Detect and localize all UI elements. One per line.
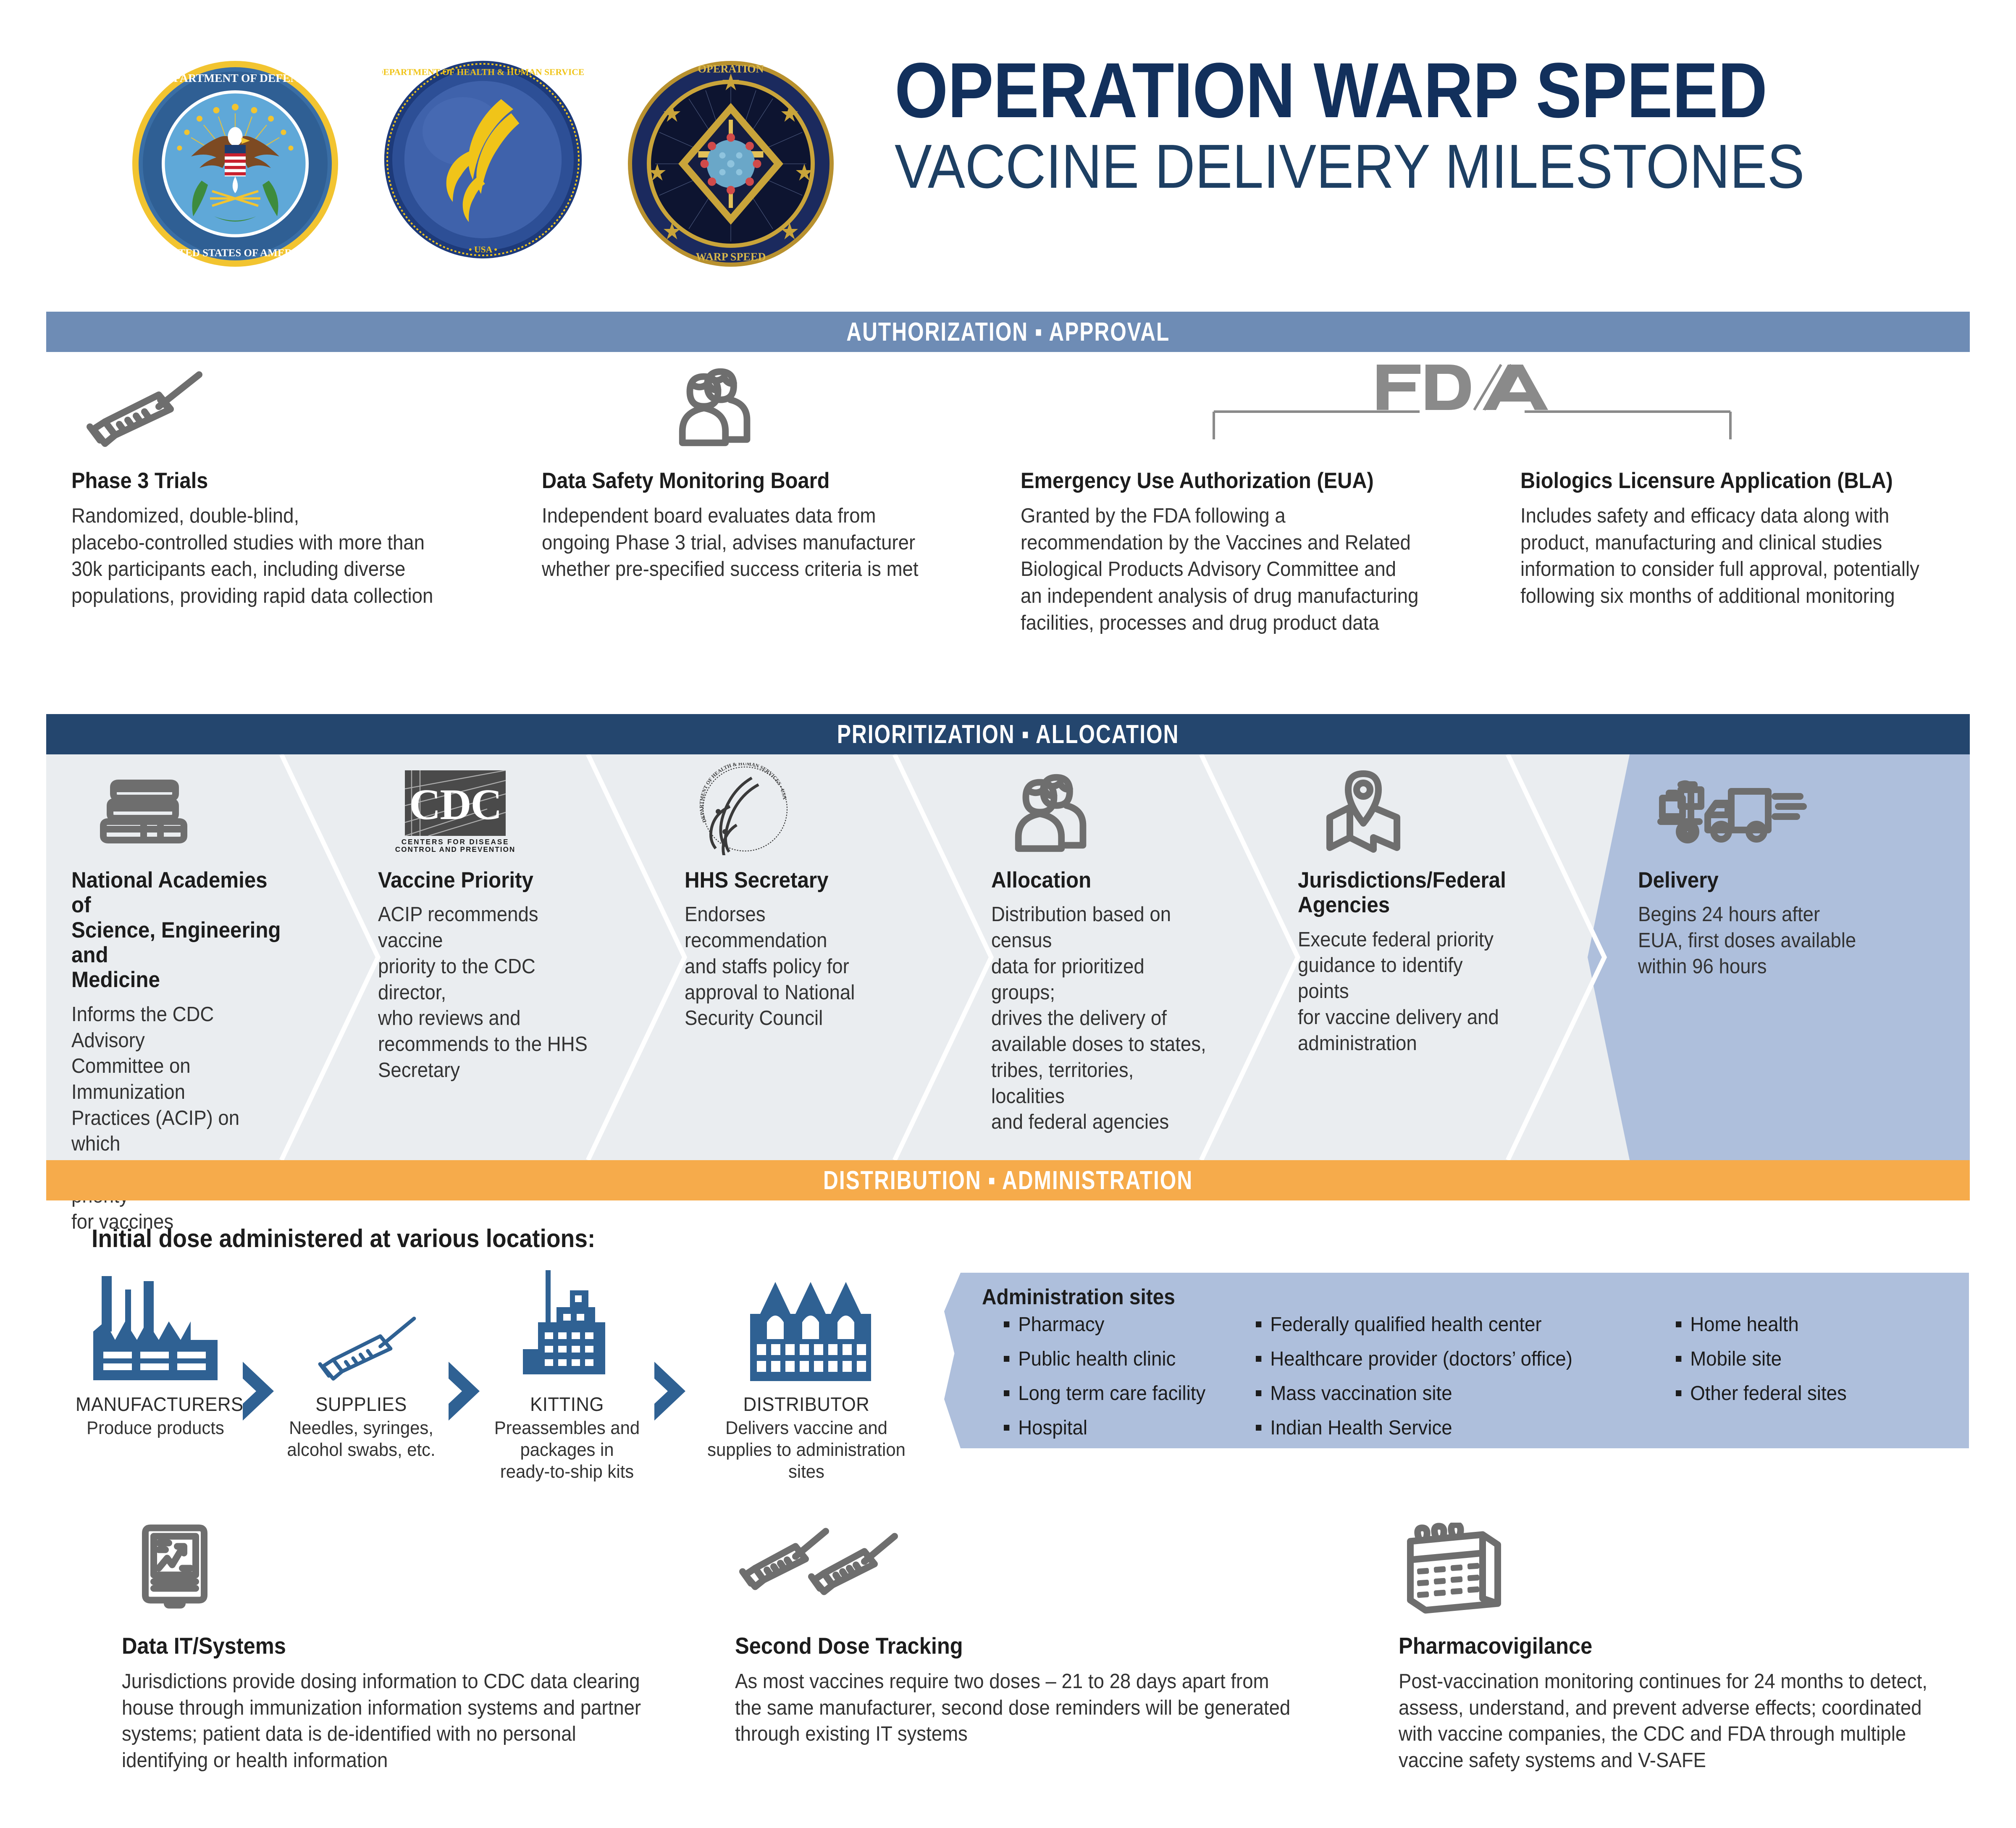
chain-node-manufacturers: MANUFACTURERS Produce products bbox=[71, 1269, 239, 1439]
svg-text:CDC: CDC bbox=[409, 780, 501, 829]
hhs-seal: DEPARTMENT OF HEALTH & HUMAN SERVICES • … bbox=[382, 59, 584, 260]
distribution-heading: Initial dose administered at various loc… bbox=[92, 1224, 595, 1253]
item-body: Execute federal priorityguidance to iden… bbox=[1298, 927, 1517, 1057]
item-eua: Emergency Use Authorization (EUA) Grante… bbox=[1021, 361, 1495, 636]
item-title: Second Dose Tracking bbox=[735, 1632, 1315, 1659]
item-bla: Biologics Licensure Application (BLA) In… bbox=[1520, 361, 1978, 610]
cdc-logo-icon: CDC CENTERS FOR DISEASE CONTROL AND PREV… bbox=[378, 754, 605, 855]
item-data-it-systems: Data IT/Systems Jurisdictions provide do… bbox=[122, 1521, 731, 1774]
list-item: Mobile site bbox=[1676, 1349, 1847, 1369]
page-subtitle: VACCINE DELIVERY MILESTONES bbox=[895, 136, 1804, 198]
svg-text:DEPARTMENT OF HEALTH & HUMAN S: DEPARTMENT OF HEALTH & HUMAN SERVICES bbox=[382, 67, 584, 77]
section-bar-authorization-label: AUTHORIZATION ▪ APPROVAL bbox=[846, 317, 1170, 347]
section-bar-distribution-label: DISTRIBUTION ▪ ADMINISTRATION bbox=[823, 1166, 1193, 1195]
list-item: Federally qualified health center bbox=[1256, 1315, 1572, 1335]
calendar-icon bbox=[1399, 1521, 1999, 1617]
eua-spacer bbox=[1021, 361, 1495, 449]
section-followup: Data IT/Systems Jurisdictions provide do… bbox=[0, 1521, 2016, 1815]
section-prioritization: National Academies ofScience, Engineerin… bbox=[46, 754, 1970, 1160]
item-title: Emergency Use Authorization (EUA) bbox=[1021, 468, 1457, 494]
list-item: Healthcare provider (doctors’ office) bbox=[1256, 1349, 1572, 1369]
item-title: Jurisdictions/FederalAgencies bbox=[1298, 868, 1517, 918]
svg-text:DEPARTMENT OF HEALTH & HUMAN S: DEPARTMENT OF HEALTH & HUMAN SERVICES • … bbox=[698, 763, 788, 823]
item-body: As most vaccines require two doses – 21 … bbox=[735, 1668, 1321, 1747]
laptop-chart-icon bbox=[122, 1521, 731, 1617]
map-pin-icon bbox=[1298, 754, 1533, 855]
two-syringes-icon bbox=[735, 1521, 1365, 1617]
svg-text:WARP SPEED: WARP SPEED bbox=[696, 251, 766, 263]
item-title: Data Safety Monitoring Board bbox=[542, 468, 959, 494]
chain-node-name: MANUFACTURERS bbox=[76, 1393, 235, 1416]
masthead: DEPARTMENT OF DEFENSE UNITED STATES OF A… bbox=[0, 0, 2016, 294]
administration-sites-heading: Administration sites bbox=[982, 1284, 1175, 1310]
chain-node-desc: Preassembles andpackages inready-to-ship… bbox=[487, 1417, 647, 1483]
item-body: Granted by the FDA following arecommenda… bbox=[1021, 503, 1462, 636]
item-body: Begins 24 hours afterEUA, first doses av… bbox=[1638, 902, 1880, 980]
infographic-page: DEPARTMENT OF DEFENSE UNITED STATES OF A… bbox=[0, 0, 2016, 1828]
item-second-dose-tracking: Second Dose Tracking As most vaccines re… bbox=[735, 1521, 1365, 1747]
section-authorization: Phase 3 Trials Randomized, double-blind,… bbox=[0, 361, 2016, 706]
item-title: National Academies ofScience, Engineerin… bbox=[71, 868, 290, 993]
item-body: Post-vaccination monitoring continues fo… bbox=[1399, 1668, 1957, 1774]
item-title: Delivery bbox=[1638, 868, 1880, 893]
list-item: Public health clinic bbox=[1004, 1349, 1205, 1369]
svg-text:OPERATION: OPERATION bbox=[698, 63, 764, 75]
item-title: Allocation bbox=[991, 868, 1210, 893]
svg-text:UNITED STATES OF AMERICA: UNITED STATES OF AMERICA bbox=[159, 247, 312, 259]
svg-text:CONTROL AND PREVENTION: CONTROL AND PREVENTION bbox=[395, 845, 516, 854]
list-item: Home health bbox=[1676, 1315, 1847, 1335]
administration-sites-column-3: Home health Mobile site Other federal si… bbox=[1676, 1315, 1856, 1418]
syringe-icon bbox=[71, 361, 491, 449]
dod-seal: DEPARTMENT OF DEFENSE UNITED STATES OF A… bbox=[130, 59, 340, 269]
chain-arrow-2 bbox=[445, 1360, 483, 1423]
item-body: Randomized, double-blind,placebo-control… bbox=[71, 503, 462, 610]
syringe-icon bbox=[277, 1269, 445, 1386]
item-title: HHS Secretary bbox=[685, 868, 895, 893]
factory-icon bbox=[71, 1269, 239, 1386]
svg-text:DEPARTMENT OF DEFENSE: DEPARTMENT OF DEFENSE bbox=[157, 71, 313, 84]
chain-node-name: DISTRIBUTOR bbox=[695, 1393, 918, 1416]
item-title: Phase 3 Trials bbox=[71, 468, 458, 494]
books-icon bbox=[71, 754, 307, 855]
item-hhs-secretary: DEPARTMENT OF HEALTH & HUMAN SERVICES • … bbox=[685, 754, 911, 1032]
chain-node-desc: Delivers vaccine andsupplies to administ… bbox=[695, 1417, 918, 1483]
chain-node-supplies: SUPPLIES Needles, syringes,alcohol swabs… bbox=[277, 1269, 445, 1461]
bla-spacer bbox=[1520, 361, 1978, 449]
section-bar-prioritization: PRIORITIZATION ▪ ALLOCATION bbox=[46, 714, 1970, 754]
list-item: Mass vaccination site bbox=[1256, 1384, 1572, 1404]
two-people-icon bbox=[542, 361, 995, 449]
item-data-safety-monitoring-board: Data Safety Monitoring Board Independent… bbox=[542, 361, 995, 583]
chain-node-kitting: KITTING Preassembles andpackages inready… bbox=[483, 1269, 651, 1483]
chain-node-name: KITTING bbox=[487, 1393, 647, 1416]
page-title: OPERATION WARP SPEED bbox=[895, 55, 1784, 126]
chain-arrow-3 bbox=[651, 1360, 689, 1423]
two-people-icon bbox=[991, 754, 1226, 855]
item-vaccine-priority: CDC CENTERS FOR DISEASE CONTROL AND PREV… bbox=[378, 754, 605, 1084]
ows-seal: OPERATION WARP SPEED bbox=[626, 59, 836, 269]
item-pharmacovigilance: Pharmacovigilance Post-vaccination monit… bbox=[1399, 1521, 1999, 1774]
hhs-logo-icon: DEPARTMENT OF HEALTH & HUMAN SERVICES • … bbox=[685, 754, 911, 855]
chain-node-name: SUPPLIES bbox=[281, 1393, 441, 1416]
item-delivery: Delivery Begins 24 hours afterEUA, first… bbox=[1638, 754, 1898, 980]
item-jurisdictions: Jurisdictions/FederalAgencies Execute fe… bbox=[1298, 754, 1533, 1056]
item-body: Includes safety and efficacy data along … bbox=[1520, 503, 1946, 610]
section-bar-prioritization-label: PRIORITIZATION ▪ ALLOCATION bbox=[837, 720, 1179, 749]
list-item: Hospital bbox=[1004, 1418, 1205, 1438]
item-body: Distribution based on censusdata for pri… bbox=[991, 902, 1210, 1135]
chain-node-desc: Needles, syringes,alcohol swabs, etc. bbox=[281, 1417, 441, 1461]
administration-sites-column-1: Pharmacy Public health clinic Long term … bbox=[1004, 1315, 1216, 1452]
item-title: Pharmacovigilance bbox=[1399, 1632, 1951, 1659]
item-body: Endorses recommendationand staffs policy… bbox=[685, 902, 895, 1032]
item-title: Data IT/Systems bbox=[122, 1632, 682, 1659]
item-body: Independent board evaluates data fromong… bbox=[542, 503, 963, 583]
svg-text:• USA •: • USA • bbox=[469, 244, 497, 255]
chain-node-desc: Produce products bbox=[76, 1417, 235, 1439]
supply-chain: MANUFACTURERS Produce products bbox=[71, 1269, 945, 1487]
item-allocation: Allocation Distribution based on censusd… bbox=[991, 754, 1226, 1135]
administration-sites-column-2: Federally qualified health center Health… bbox=[1256, 1315, 1589, 1452]
delivery-truck-icon bbox=[1638, 754, 1898, 855]
item-body: Jurisdictions provide dosing information… bbox=[122, 1668, 688, 1774]
office-building-icon bbox=[483, 1269, 651, 1386]
svg-text:CENTERS FOR DISEASE: CENTERS FOR DISEASE bbox=[402, 838, 509, 846]
list-item: Indian Health Service bbox=[1256, 1418, 1572, 1438]
chain-node-distributor: DISTRIBUTOR Delivers vaccine andsupplies… bbox=[689, 1269, 924, 1483]
section-bar-distribution: DISTRIBUTION ▪ ADMINISTRATION bbox=[46, 1160, 1970, 1200]
chain-arrow-1 bbox=[239, 1360, 277, 1423]
item-title: Biologics Licensure Application (BLA) bbox=[1520, 468, 1942, 494]
item-phase3-trials: Phase 3 Trials Randomized, double-blind,… bbox=[71, 361, 491, 610]
warehouse-icon bbox=[689, 1269, 924, 1386]
section-bar-authorization: AUTHORIZATION ▪ APPROVAL bbox=[46, 312, 1970, 352]
list-item: Pharmacy bbox=[1004, 1315, 1205, 1335]
item-body: ACIP recommends vaccinepriority to the C… bbox=[378, 902, 589, 1083]
item-title: Vaccine Priority bbox=[378, 868, 589, 893]
list-item: Long term care facility bbox=[1004, 1384, 1205, 1404]
title-block: OPERATION WARP SPEED VACCINE DELIVERY MI… bbox=[895, 55, 1906, 198]
list-item: Other federal sites bbox=[1676, 1384, 1847, 1404]
